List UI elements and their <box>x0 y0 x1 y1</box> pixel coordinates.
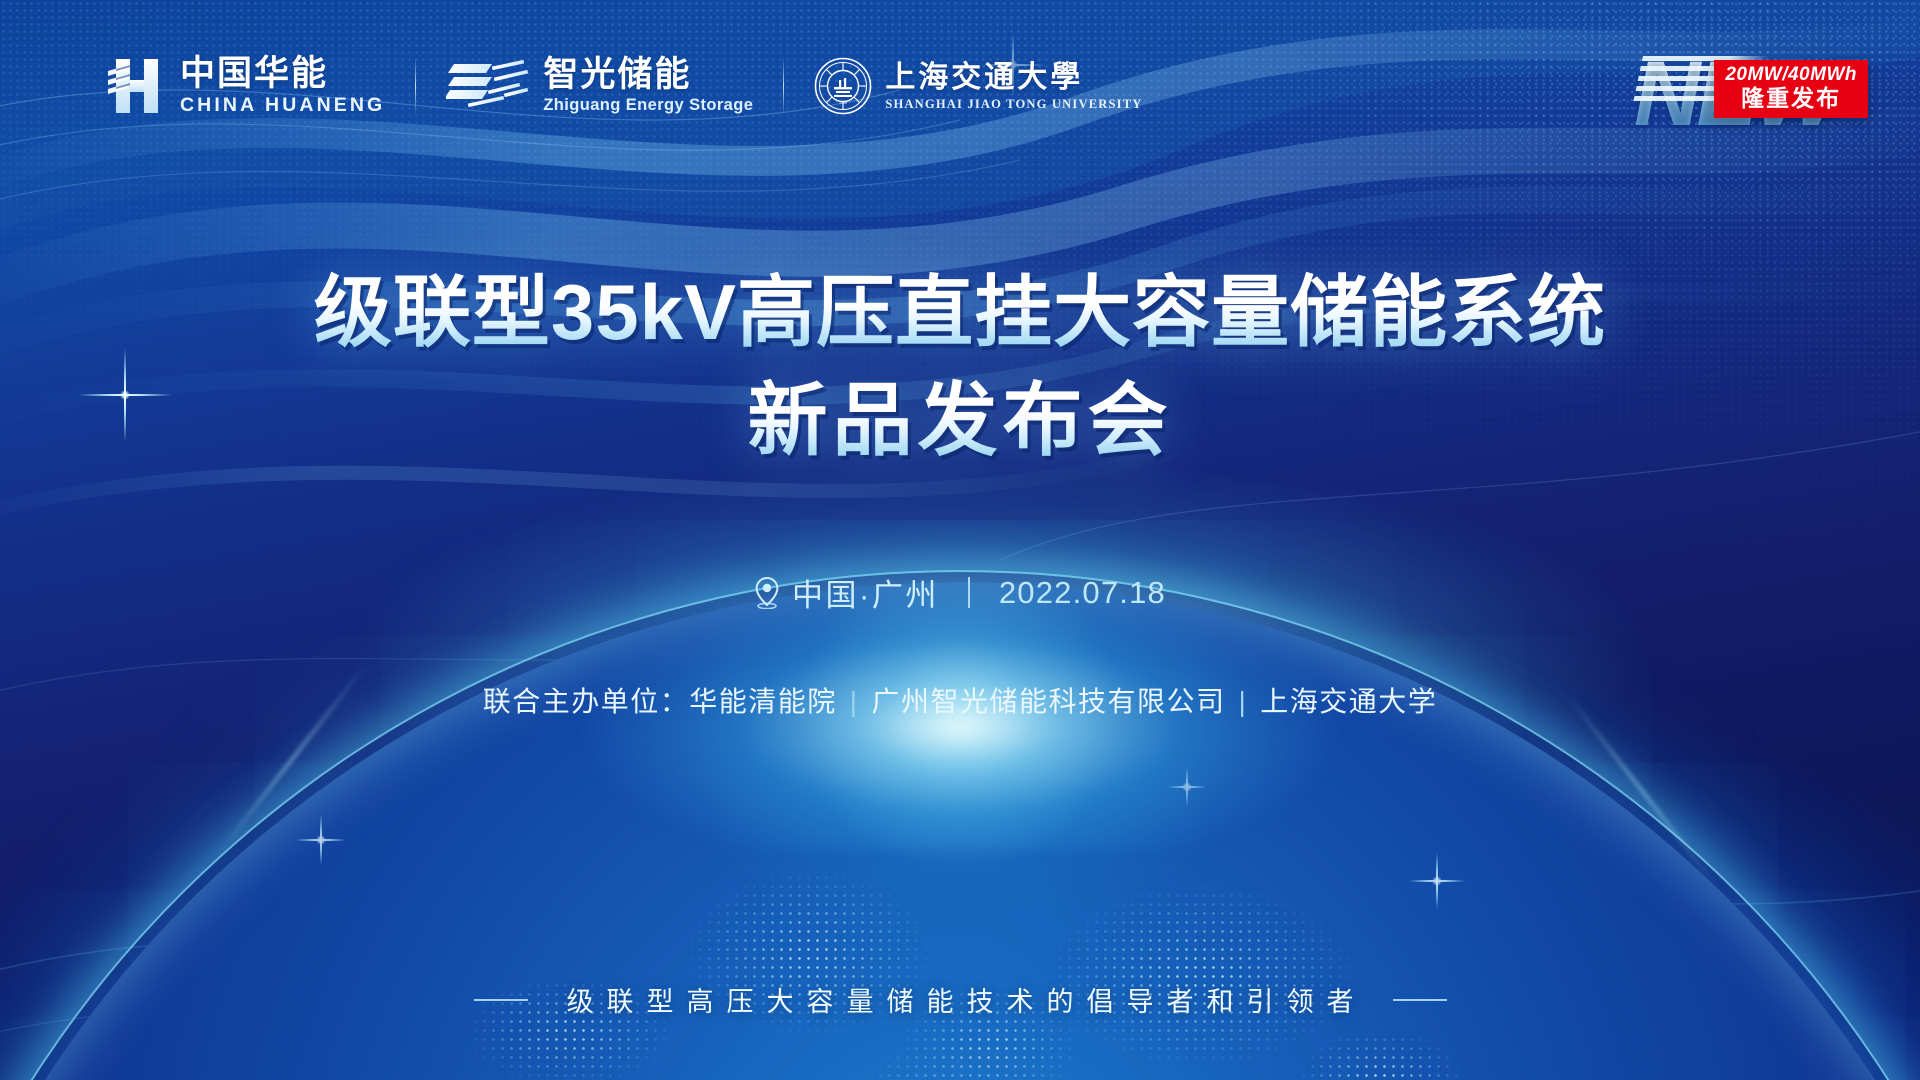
huaneng-name-cn: 中国华能 <box>180 56 385 93</box>
event-meta: 中国·广州 2022.07.18 <box>0 570 1920 615</box>
logo-divider <box>415 57 416 115</box>
zhiguang-name-cn: 智光储能 <box>543 57 753 94</box>
location-pin-icon <box>754 577 780 609</box>
tagline-dash-left <box>474 999 528 1001</box>
logo-zhiguang[interactable]: 智光储能 Zhiguang Energy Storage <box>446 57 753 116</box>
sparkle <box>1398 842 1476 920</box>
bottom-tagline: 级联型高压大容量储能技术的倡导者和引领者 <box>0 980 1920 1019</box>
zhiguang-bars-mark-icon <box>446 59 530 113</box>
sparkle <box>1160 760 1214 814</box>
logo-divider <box>783 57 784 115</box>
zhiguang-name-en: Zhiguang Energy Storage <box>543 96 753 115</box>
badge-spec-text: 20MW/40MWh <box>1725 65 1857 85</box>
sparkle <box>286 805 356 875</box>
event-location: 中国·广州 <box>792 570 939 615</box>
organizer-1: 华能清能院 <box>689 686 837 717</box>
huaneng-h-mark-icon <box>108 55 166 117</box>
organizer-separator: | <box>1239 686 1248 717</box>
banner-canvas: 中国华能 CHINA HUANENG <box>0 0 1920 1080</box>
svg-text:1896: 1896 <box>839 100 847 105</box>
new-release-badge: NEW 20MW/40MWh 隆重发布 <box>1634 38 1864 158</box>
badge-release-text: 隆重发布 <box>1725 86 1857 111</box>
main-title: 级联型35kV高压直挂大容量储能系统 新品发布会 <box>0 262 1920 473</box>
lens-streak <box>1566 695 1716 886</box>
organizer-2: 广州智光储能科技有限公司 <box>872 686 1226 717</box>
organizers-label: 联合主办单位： <box>483 686 690 717</box>
tagline-dash-right <box>1393 999 1447 1001</box>
earth-continents-dots <box>210 792 1710 1080</box>
partner-logo-bar: 中国华能 CHINA HUANENG <box>108 55 1142 117</box>
tagline-text: 级联型高压大容量储能技术的倡导者和引领者 <box>554 980 1367 1019</box>
huaneng-name-en: CHINA HUANENG <box>180 95 385 116</box>
organizer-separator: | <box>850 686 859 717</box>
event-date: 2022.07.18 <box>999 575 1166 611</box>
organizers-line: 联合主办单位：华能清能院|广州智光储能科技有限公司|上海交通大学 <box>0 680 1920 720</box>
title-line-2: 新品发布会 <box>0 369 1920 473</box>
sjtu-name-en: SHANGHAI JIAO TONG UNIVERSITY <box>885 98 1142 112</box>
title-line-1: 级联型35kV高压直挂大容量储能系统 <box>0 262 1920 363</box>
sjtu-seal-mark-icon: 1896 <box>814 57 872 115</box>
organizer-3: 上海交通大学 <box>1260 686 1437 717</box>
release-red-tag: 20MW/40MWh 隆重发布 <box>1714 60 1868 118</box>
logo-china-huaneng[interactable]: 中国华能 CHINA HUANENG <box>108 55 385 117</box>
logo-sjtu[interactable]: 1896 上海交通大學 SHANGHAI JIAO TONG UNIVERSIT… <box>814 57 1142 115</box>
meta-divider <box>968 577 970 608</box>
sjtu-name-cn: 上海交通大學 <box>885 61 1142 94</box>
